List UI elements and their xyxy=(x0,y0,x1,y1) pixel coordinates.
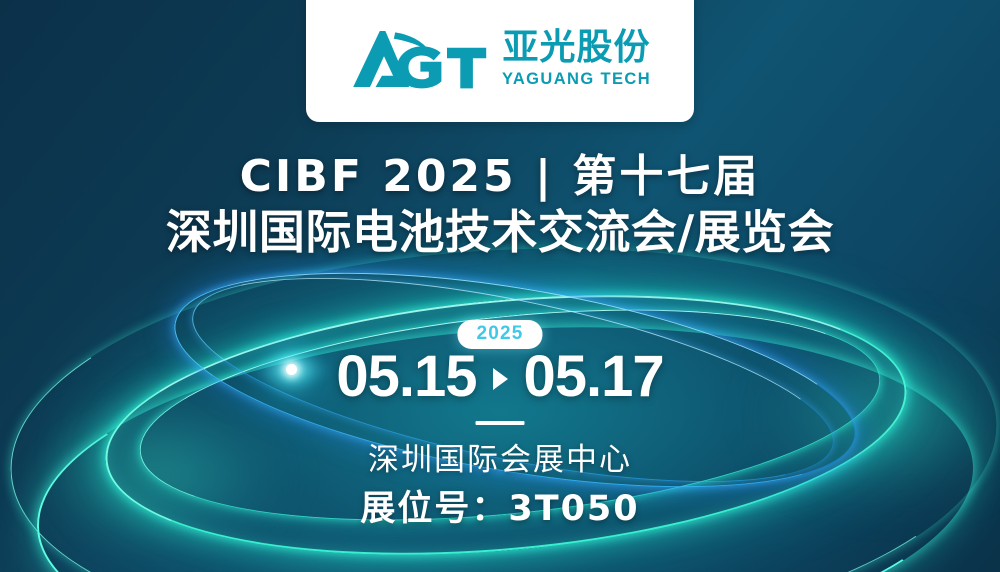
headline-line-2: 深圳国际电池技术交流会/展览会 xyxy=(0,204,1000,260)
triangle-right-icon xyxy=(493,368,508,390)
venue-name: 深圳国际会展中心 xyxy=(0,440,1000,480)
company-name-cn: 亚光股份 xyxy=(502,30,650,66)
event-headline: CIBF 2025 | 第十七届 深圳国际电池技术交流会/展览会 xyxy=(0,152,1000,260)
brand-name-block: 亚光股份 YAGUANG TECH xyxy=(502,30,651,88)
brand-logo-card: 亚光股份 YAGUANG TECH xyxy=(306,0,694,122)
booth-number: 展位号：3T050 xyxy=(0,488,1000,530)
venue-info: 深圳国际会展中心 展位号：3T050 xyxy=(0,440,1000,530)
event-date-start: 05.15 xyxy=(336,348,476,406)
company-name-en: YAGUANG TECH xyxy=(502,71,651,88)
section-divider xyxy=(476,421,525,425)
agt-mountain-logo-icon xyxy=(349,28,489,90)
event-banner: 亚光股份 YAGUANG TECH CIBF 2025 | 第十七届 深圳国际电… xyxy=(0,0,1000,572)
event-date-end: 05.17 xyxy=(524,348,664,406)
headline-line-1: CIBF 2025 | 第十七届 xyxy=(0,152,1000,202)
event-date-range: 05.15 05.17 xyxy=(0,348,1000,406)
